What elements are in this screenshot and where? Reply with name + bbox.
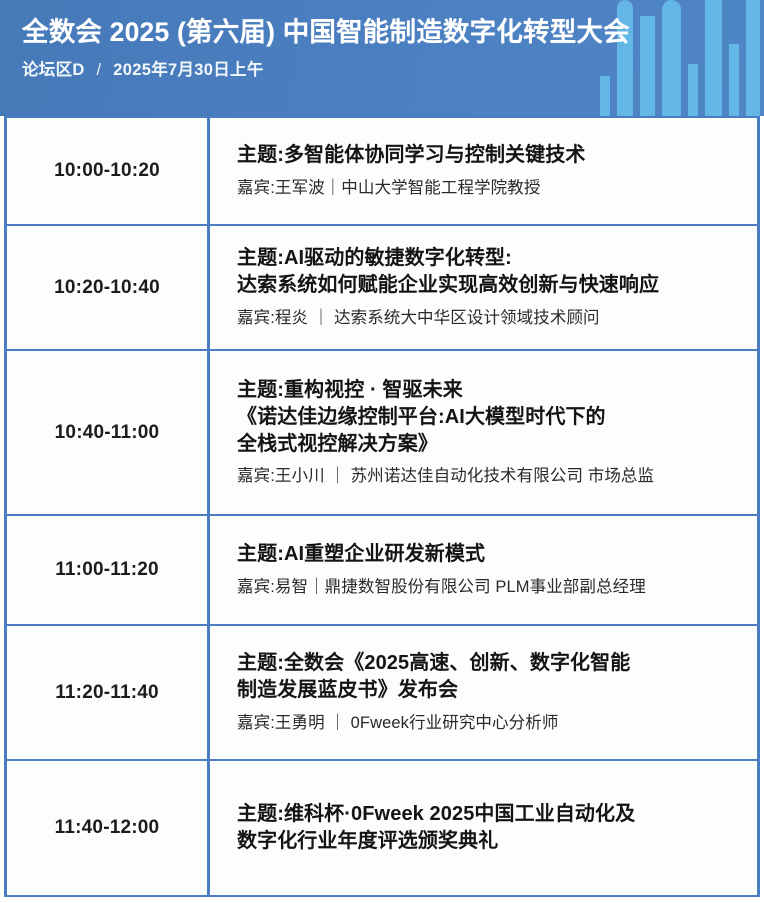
agenda-table: 10:00-10:20 主题:多智能体协同学习与控制关键技术 嘉宾:王军波｜中山…: [0, 116, 764, 901]
session-guest: 嘉宾:易智｜鼎捷数智股份有限公司 PLM事业部副总经理: [237, 577, 743, 598]
time-cell: 11:40-12:00: [7, 761, 210, 895]
session-topic: 主题:多智能体协同学习与控制关键技术: [237, 142, 743, 169]
session-detail-cell: 主题:全数会《2025高速、创新、数字化智能 制造发展蓝皮书》发布会 嘉宾:王勇…: [210, 626, 757, 759]
session-topic: 主题:全数会《2025高速、创新、数字化智能 制造发展蓝皮书》发布会: [237, 650, 743, 704]
table-row: 10:20-10:40 主题:AI驱动的敏捷数字化转型: 达索系统如何赋能企业实…: [4, 226, 760, 351]
session-topic: 主题:AI重塑企业研发新模式: [237, 541, 743, 568]
session-time: 10:00-10:20: [54, 160, 160, 182]
page-title: 全数会 2025 (第六届) 中国智能制造数字化转型大会: [22, 17, 764, 47]
date-time-label: 2025年7月30日上午: [113, 61, 263, 79]
table-row: 10:40-11:00 主题:重构视控 · 智驱未来 《诺达佳边缘控制平台:AI…: [4, 351, 760, 516]
session-detail-cell: 主题:多智能体协同学习与控制关键技术 嘉宾:王军波｜中山大学智能工程学院教授: [210, 118, 757, 224]
session-time: 11:00-11:20: [55, 559, 159, 581]
time-cell: 11:00-11:20: [7, 516, 210, 624]
header-text-block: 全数会 2025 (第六届) 中国智能制造数字化转型大会 论坛区D / 2025…: [0, 0, 764, 80]
session-time: 11:40-12:00: [55, 817, 160, 839]
time-cell: 10:40-11:00: [7, 351, 210, 514]
header-subtitle: 论坛区D / 2025年7月30日上午: [22, 56, 764, 80]
session-guest: 嘉宾:程炎 ｜ 达索系统大中华区设计领域技术顾问: [237, 308, 743, 329]
session-detail-cell: 主题:AI重塑企业研发新模式 嘉宾:易智｜鼎捷数智股份有限公司 PLM事业部副总…: [210, 516, 757, 624]
table-row: 11:00-11:20 主题:AI重塑企业研发新模式 嘉宾:易智｜鼎捷数智股份有…: [4, 516, 760, 626]
session-topic: 主题:重构视控 · 智驱未来 《诺达佳边缘控制平台:AI大模型时代下的 全栈式视…: [237, 377, 743, 457]
time-cell: 10:00-10:20: [7, 118, 210, 224]
session-detail-cell: 主题:AI驱动的敏捷数字化转型: 达索系统如何赋能企业实现高效创新与快速响应 嘉…: [210, 226, 757, 349]
poster-header: 全数会 2025 (第六届) 中国智能制造数字化转型大会 论坛区D / 2025…: [0, 0, 764, 116]
session-guest: 嘉宾:王小川 ｜ 苏州诺达佳自动化技术有限公司 市场总监: [237, 466, 743, 487]
time-cell: 10:20-10:40: [7, 226, 210, 349]
session-time: 10:20-10:40: [54, 277, 160, 299]
time-cell: 11:20-11:40: [7, 626, 210, 759]
session-guest: 嘉宾:王军波｜中山大学智能工程学院教授: [237, 178, 743, 199]
bar-chart-bar-1: [600, 76, 610, 116]
session-time: 10:40-11:00: [55, 422, 160, 444]
session-detail-cell: 主题:维科杯·0Fweek 2025中国工业自动化及 数字化行业年度评选颁奖典礼: [210, 761, 757, 895]
table-row: 10:00-10:20 主题:多智能体协同学习与控制关键技术 嘉宾:王军波｜中山…: [4, 116, 760, 226]
table-row: 11:20-11:40 主题:全数会《2025高速、创新、数字化智能 制造发展蓝…: [4, 626, 760, 761]
session-time: 11:20-11:40: [55, 682, 159, 704]
forum-area-label: 论坛区D: [22, 61, 85, 79]
session-guest: 嘉宾:王勇明 ｜ 0Fweek行业研究中心分析师: [237, 713, 743, 734]
session-topic: 主题:AI驱动的敏捷数字化转型: 达索系统如何赋能企业实现高效创新与快速响应: [237, 245, 743, 299]
conference-agenda-poster: 全数会 2025 (第六届) 中国智能制造数字化转型大会 论坛区D / 2025…: [0, 0, 764, 903]
subtitle-separator: /: [90, 61, 109, 80]
session-detail-cell: 主题:重构视控 · 智驱未来 《诺达佳边缘控制平台:AI大模型时代下的 全栈式视…: [210, 351, 757, 514]
session-topic: 主题:维科杯·0Fweek 2025中国工业自动化及 数字化行业年度评选颁奖典礼: [237, 801, 743, 855]
table-row: 11:40-12:00 主题:维科杯·0Fweek 2025中国工业自动化及 数…: [4, 761, 760, 897]
